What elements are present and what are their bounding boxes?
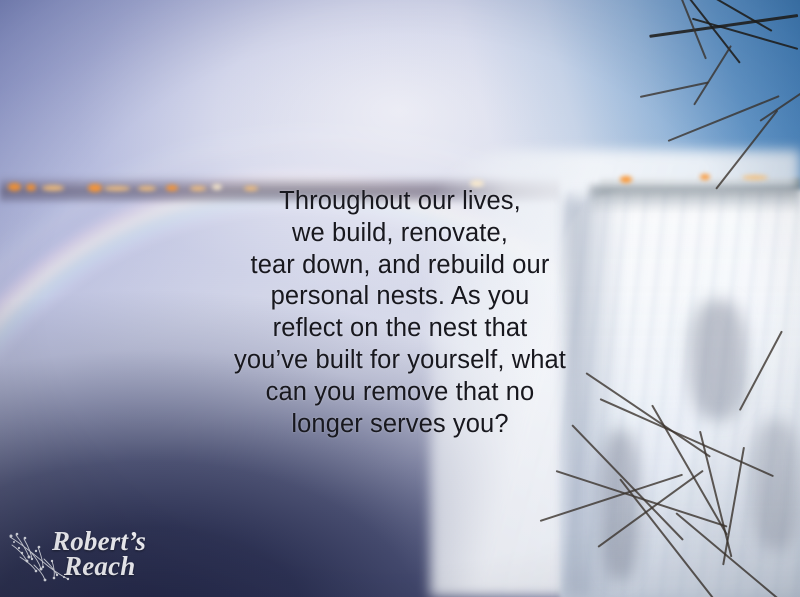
quote-line: reflect on the nest that [170, 313, 630, 345]
bottom-right-foliage [480, 440, 800, 597]
city-light [104, 186, 130, 191]
logo-line-reach: Reach [44, 554, 146, 579]
city-light [742, 175, 768, 180]
quote-line: we build, renovate, [170, 218, 630, 250]
quote-line: Throughout our lives, [170, 186, 630, 218]
city-light [8, 183, 21, 191]
city-light [138, 186, 156, 191]
city-light [42, 185, 64, 191]
city-light [700, 174, 710, 180]
quote-line: can you remove that no [170, 377, 630, 409]
logo-wordmark: Robert’s Reach [44, 529, 146, 579]
quote-line: tear down, and rebuild our [170, 250, 630, 282]
city-light [620, 176, 632, 183]
quote-line: longer serves you? [170, 409, 630, 441]
city-light [88, 184, 102, 192]
quote-poster: Throughout our lives, we build, renovate… [0, 0, 800, 597]
city-light [26, 184, 36, 191]
quote-line: personal nests. As you [170, 281, 630, 313]
quote-line: you’ve built for yourself, what [170, 345, 630, 377]
roberts-reach-logo: Robert’s Reach [16, 529, 191, 591]
quote-text: Throughout our lives, we build, renovate… [170, 186, 630, 440]
